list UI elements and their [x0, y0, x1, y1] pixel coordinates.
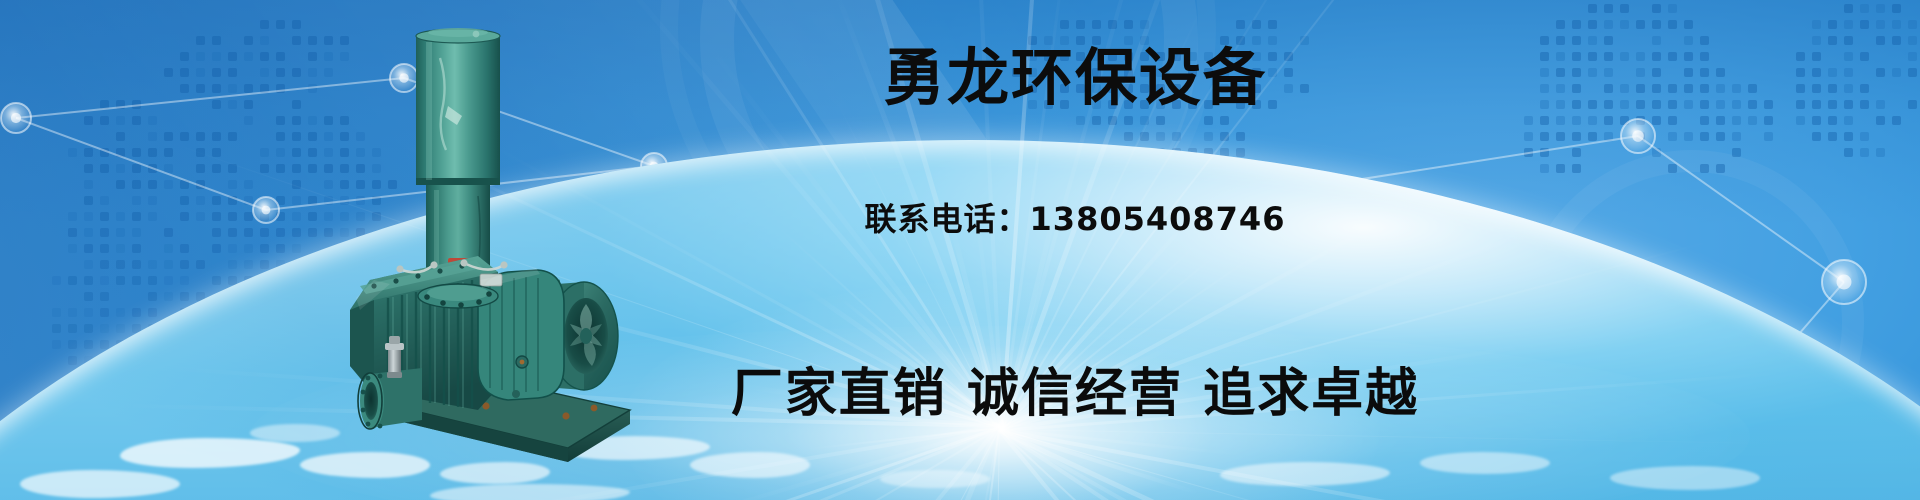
silencer-cylinder — [416, 28, 500, 185]
silencer-flange — [418, 284, 498, 308]
roots-blower-product-image — [330, 18, 650, 480]
promotional-banner: 勇龙环保设备 联系电话：13805408746 厂家直销 诚信经营 追求卓越 — [0, 0, 1920, 500]
